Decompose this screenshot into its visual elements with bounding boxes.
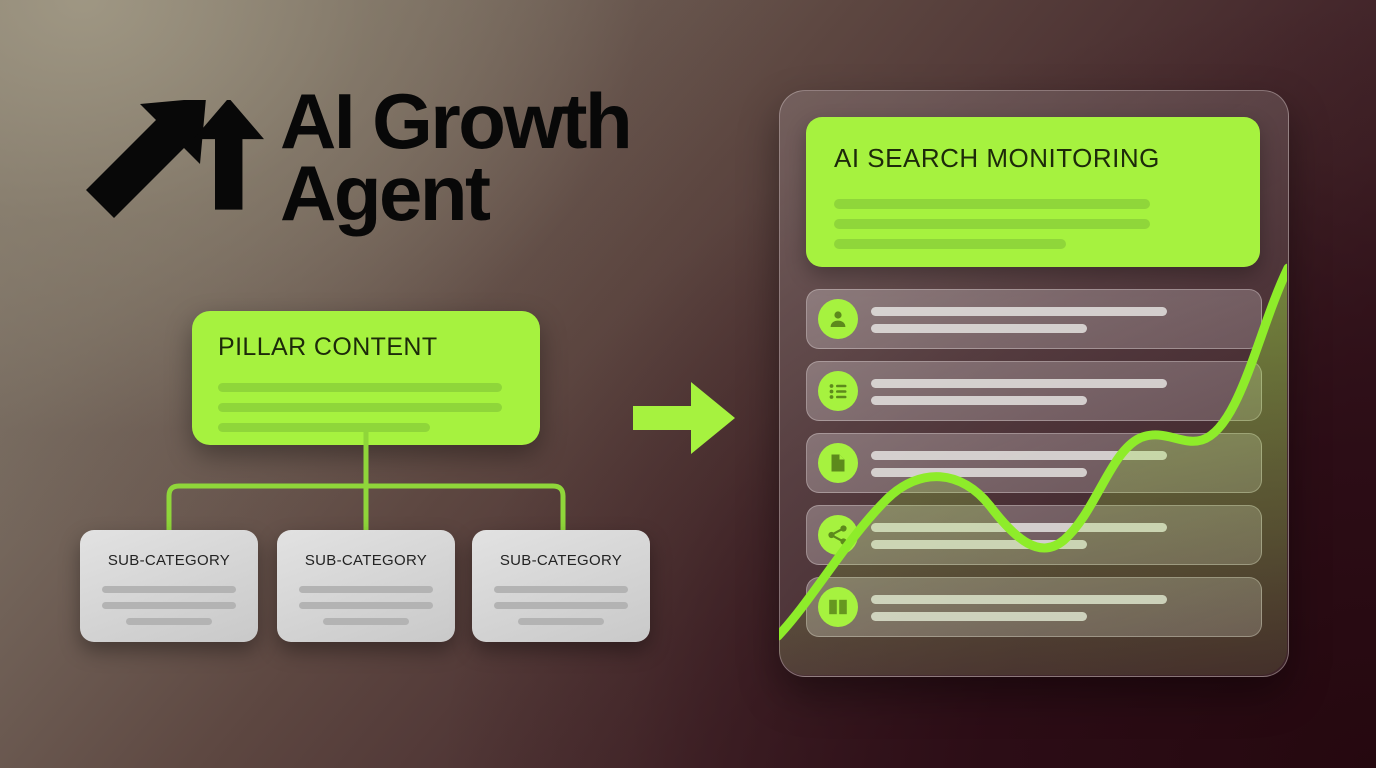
placeholder-line xyxy=(494,602,628,609)
sub-category-label: SUB-CATEGORY xyxy=(472,552,650,569)
page-title: AI Growth Agent xyxy=(280,86,630,230)
placeholder-line xyxy=(218,403,502,412)
placeholder-line xyxy=(834,219,1150,229)
placeholder-line xyxy=(494,586,628,593)
placeholder-line xyxy=(834,239,1066,249)
placeholder-line xyxy=(871,396,1087,405)
placeholder-line xyxy=(871,379,1167,388)
placeholder-line xyxy=(871,468,1087,477)
panel-row-book[interactable] xyxy=(806,577,1262,637)
placeholder-line xyxy=(871,451,1167,460)
sub-category-card-3[interactable]: SUB-CATEGORY xyxy=(472,530,650,642)
placeholder-line xyxy=(518,618,604,625)
panel-header-label: AI SEARCH MONITORING xyxy=(834,143,1160,174)
sub-category-card-2[interactable]: SUB-CATEGORY xyxy=(277,530,455,642)
sub-category-label: SUB-CATEGORY xyxy=(277,552,455,569)
placeholder-line xyxy=(871,540,1087,549)
list-icon xyxy=(818,371,858,411)
panel-row-person[interactable] xyxy=(806,289,1262,349)
placeholder-line xyxy=(126,618,212,625)
arrow-right-icon xyxy=(633,376,737,465)
sub-category-label: SUB-CATEGORY xyxy=(80,552,258,569)
document-icon xyxy=(818,443,858,483)
panel-header-card[interactable]: AI SEARCH MONITORING xyxy=(806,117,1260,267)
placeholder-line xyxy=(871,307,1167,316)
person-icon xyxy=(818,299,858,339)
placeholder-line xyxy=(299,602,433,609)
arrow-up-right-icon xyxy=(82,100,272,220)
placeholder-line xyxy=(323,618,409,625)
placeholder-line xyxy=(102,586,236,593)
panel-row-document[interactable] xyxy=(806,433,1262,493)
growth-arrows-group xyxy=(82,100,272,225)
pillar-content-card[interactable]: PILLAR CONTENT xyxy=(192,311,540,445)
placeholder-line xyxy=(871,523,1167,532)
placeholder-line xyxy=(102,602,236,609)
ai-search-monitoring-panel: AI SEARCH MONITORING xyxy=(779,90,1289,677)
tree-connector xyxy=(60,430,620,545)
placeholder-line xyxy=(834,199,1150,209)
placeholder-line xyxy=(218,383,502,392)
sub-category-card-1[interactable]: SUB-CATEGORY xyxy=(80,530,258,642)
pillar-content-label: PILLAR CONTENT xyxy=(218,333,438,362)
placeholder-line xyxy=(299,586,433,593)
placeholder-line xyxy=(871,324,1087,333)
placeholder-line xyxy=(871,595,1167,604)
book-icon xyxy=(818,587,858,627)
placeholder-line xyxy=(871,612,1087,621)
panel-row-list[interactable] xyxy=(806,361,1262,421)
poster-canvas: AI Growth Agent PILLAR CONTENT SUB-CATEG… xyxy=(0,0,1376,768)
panel-row-share[interactable] xyxy=(806,505,1262,565)
share-nodes-icon xyxy=(818,515,858,555)
